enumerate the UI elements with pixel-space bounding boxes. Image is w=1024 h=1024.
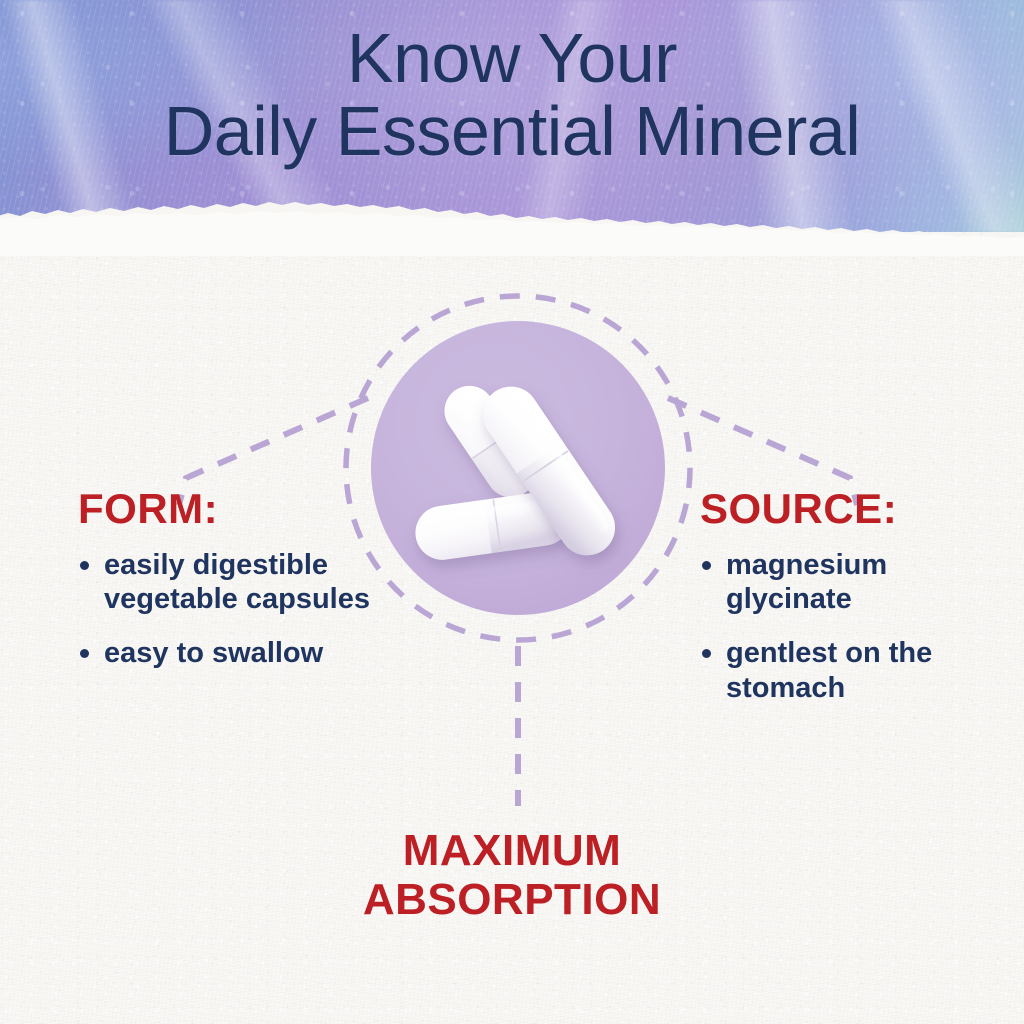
torn-paper-edge-icon <box>0 186 1024 256</box>
title-line-1: Know Your <box>0 24 1024 93</box>
white-capsules-icon <box>371 321 665 615</box>
source-heading: SOURCE: <box>700 488 1020 530</box>
list-item: magnesium glycinate <box>700 548 1020 616</box>
page-title: Know Your Daily Essential Mineral <box>0 24 1024 165</box>
form-column: FORM: easily digestible vegetable capsul… <box>78 488 408 671</box>
title-line-2: Daily Essential Mineral <box>0 97 1024 166</box>
callout-line-1: MAXIMUM <box>0 826 1024 875</box>
list-item: easily digestible vegetable capsules <box>78 548 408 616</box>
list-item: easy to swallow <box>78 636 408 670</box>
source-column: SOURCE: magnesium glycinate gentlest on … <box>700 488 1020 705</box>
form-bullet-list: easily digestible vegetable capsules eas… <box>78 548 408 671</box>
infographic-poster: Know Your Daily Essential Mineral <box>0 0 1024 1024</box>
callout-line-2: ABSORPTION <box>0 875 1024 924</box>
source-bullet-list: magnesium glycinate gentlest on the stom… <box>700 548 1020 705</box>
form-heading: FORM: <box>78 488 408 530</box>
bottom-callout: MAXIMUM ABSORPTION <box>0 826 1024 925</box>
list-item: gentlest on the stomach <box>700 636 1020 704</box>
